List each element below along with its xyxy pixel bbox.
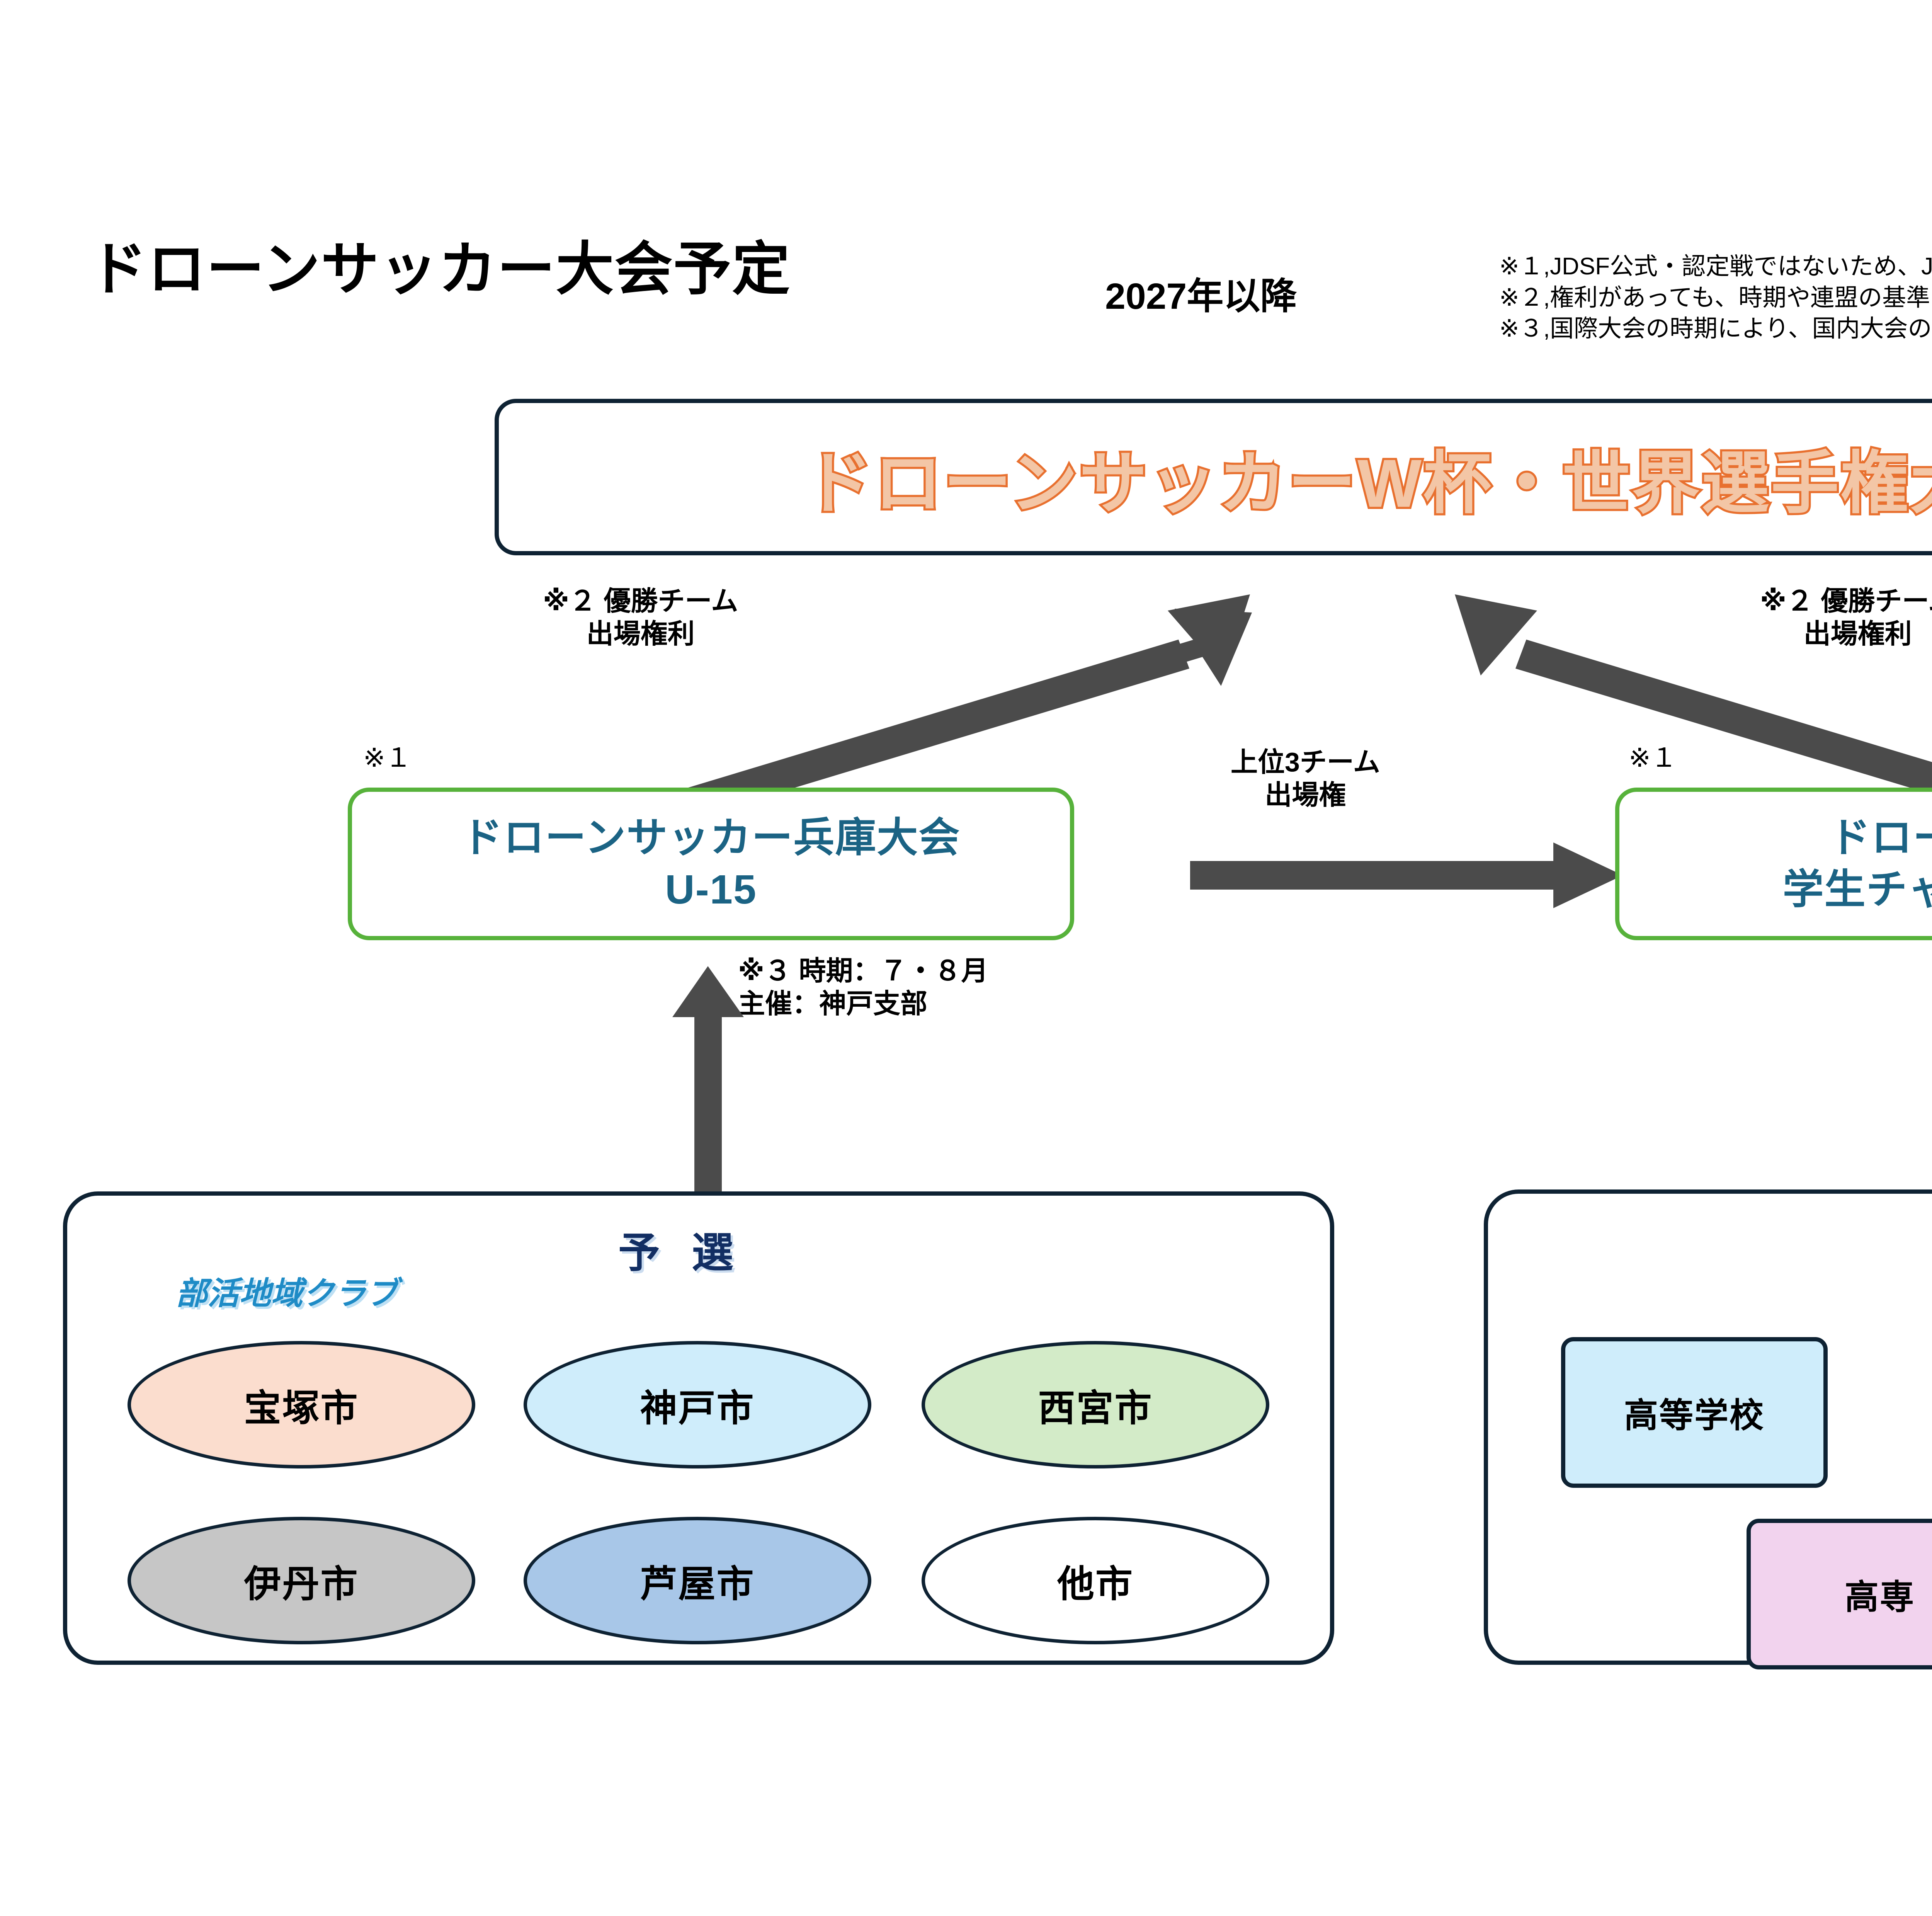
city-label: 西宮市 [1038,1378,1153,1432]
label-winner-line1-right: ※２ 優勝チーム [1760,585,1932,618]
label-winner-entitlement-left: ※２ 優勝チーム 出場権利 [543,585,738,651]
world-cup-box: ドローンサッカーW杯・世界選手権大会 [495,399,1932,555]
page-title: ドローンサッカー大会予定 [89,222,791,306]
list-item-school-kosen[interactable]: 高専 [1747,1519,1932,1669]
footnote-3: ※３,国際大会の時期により、国内大会の日程が変更となる場合があります。 [1499,313,1932,345]
arrow-qualifier-left-to-hyogo [672,966,744,1202]
label-top3-line2: 出場権 [1231,779,1380,812]
school-label: 高専 [1845,1570,1915,1619]
list-item-city-itami[interactable]: 伊丹市 [128,1517,475,1644]
footnote-list: ※１,JDSF公式・認定戦ではないため、JDSFランキングポイントの対象外となり… [1499,251,1932,345]
world-cup-title: ドローンサッカーW杯・世界選手権大会 [499,428,1932,526]
list-item-city-nishinomiya[interactable]: 西宮市 [922,1341,1269,1468]
city-label: 伊丹市 [244,1554,359,1608]
hyogo-schedule: ※３ 時期：７・８月 主催：神戸支部 [738,955,988,1021]
city-label: 宝塚市 [244,1378,359,1432]
hyogo-footnote-marker: ※１ [363,736,412,774]
osaka-footnote-marker: ※１ [1629,736,1677,774]
hyogo-schedule-period: ※３ 時期：７・８月 [738,955,988,987]
label-winner-line2: 出場権利 [543,618,738,650]
list-item-city-ashiya[interactable]: 芦屋市 [524,1517,871,1644]
tournament-osaka-line1: ドローンサッカー大阪大会 [1783,812,1932,864]
label-winner-line2-right: 出場権利 [1760,618,1932,650]
city-label: 神戸市 [640,1378,755,1432]
qualifier-left-heading: 予 選 [618,1219,743,1280]
club-category-label: 部活地域クラブ [176,1268,398,1314]
tournament-box-osaka[interactable]: ドローンサッカー大阪大会 学生チャンピオンシップ U-23 [1615,788,1932,940]
arrow-hyogo-to-worldcup [680,549,1252,792]
school-label: 高等学校 [1624,1388,1765,1437]
city-label: 他市 [1057,1554,1134,1608]
hyogo-schedule-organizer: 主催：神戸支部 [738,987,988,1020]
city-label: 芦屋市 [640,1554,755,1608]
list-item-city-takarazuka[interactable]: 宝塚市 [128,1341,475,1468]
footnote-2: ※２,権利があっても、時期や連盟の基準により出場できない場合があります。 [1499,282,1932,314]
tournament-hyogo-text: ドローンサッカー兵庫大会 U-15 [462,812,961,915]
footnote-1: ※１,JDSF公式・認定戦ではないため、JDSFランキングポイントの対象外となり… [1499,251,1932,282]
label-winner-line1: ※２ 優勝チーム [543,585,738,618]
tournament-box-hyogo[interactable]: ドローンサッカー兵庫大会 U-15 [348,788,1074,940]
since-year-label: 2027年以降 [1105,267,1297,320]
tournament-osaka-text: ドローンサッカー大阪大会 学生チャンピオンシップ U-23 [1783,812,1932,915]
list-item-school-high[interactable]: 高等学校 [1561,1337,1828,1488]
tournament-hyogo-line1: ドローンサッカー兵庫大会 [462,812,961,864]
label-winner-entitlement-right: ※２ 優勝チーム 出場権利 [1760,585,1932,651]
label-top3-entitlement: 上位3チーム 出場権 [1231,746,1380,812]
arrow-hyogo-to-osaka [1190,842,1623,908]
list-item-city-other[interactable]: 他市 [922,1517,1269,1644]
label-top3-line1: 上位3チーム [1231,746,1380,779]
list-item-city-kobe[interactable]: 神戸市 [524,1341,871,1468]
tournament-hyogo-line2: U-15 [462,864,961,916]
tournament-osaka-line2: 学生チャンピオンシップ U-23 [1783,864,1932,916]
